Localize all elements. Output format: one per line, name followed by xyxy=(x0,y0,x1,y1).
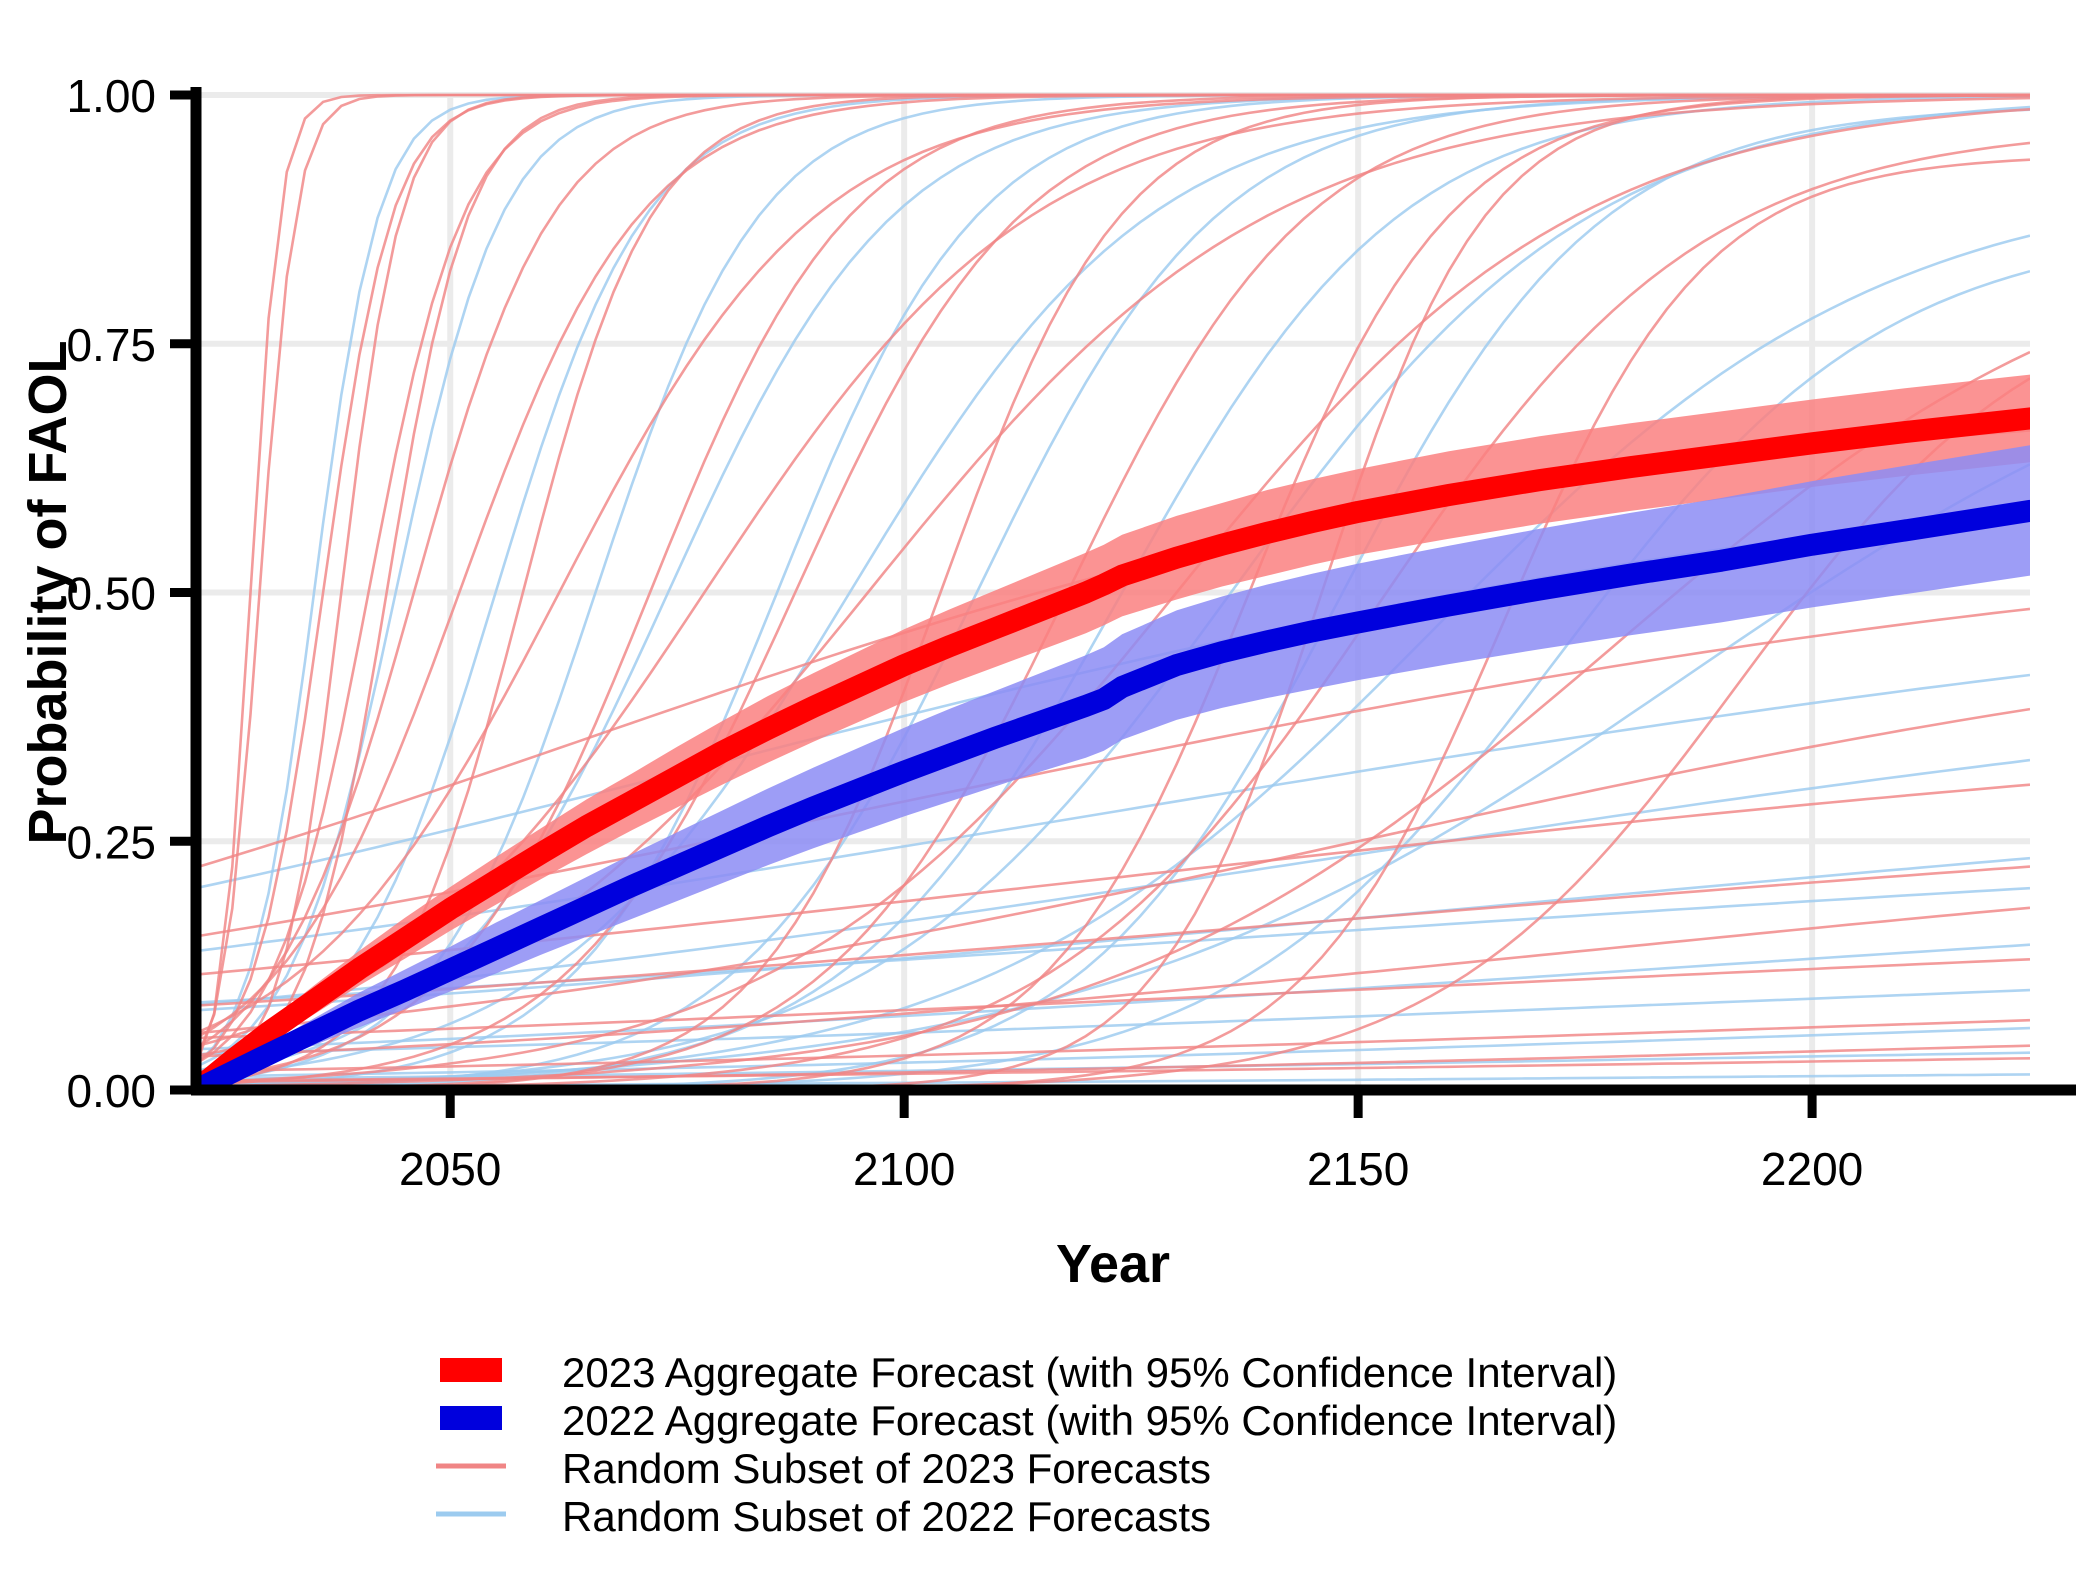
chart-canvas: 0.000.250.500.751.002050210021502200 Pro… xyxy=(0,0,2076,1594)
y-tick-label: 0.50 xyxy=(66,568,156,620)
y-tick-label: 0.75 xyxy=(66,319,156,371)
legend-label: Random Subset of 2022 Forecasts xyxy=(562,1493,1211,1540)
x-tick-label: 2150 xyxy=(1307,1143,1409,1195)
y-axis-title: Probability of FAOL xyxy=(18,340,78,844)
y-tick-label: 0.00 xyxy=(66,1065,156,1117)
legend-label: 2023 Aggregate Forecast (with 95% Confid… xyxy=(562,1349,1617,1396)
y-tick-label: 1.00 xyxy=(66,70,156,122)
x-tick-label: 2050 xyxy=(399,1143,501,1195)
x-tick-label: 2100 xyxy=(853,1143,955,1195)
x-axis-title: Year xyxy=(1056,1234,1170,1294)
legend-swatch xyxy=(440,1406,502,1430)
x-tick-label: 2200 xyxy=(1761,1143,1863,1195)
chart-figure: 0.000.250.500.751.002050210021502200 Pro… xyxy=(0,0,2076,1594)
legend-label: 2022 Aggregate Forecast (with 95% Confid… xyxy=(562,1397,1617,1444)
legend-swatch xyxy=(440,1358,502,1382)
y-tick-label: 0.25 xyxy=(66,816,156,868)
legend-label: Random Subset of 2023 Forecasts xyxy=(562,1445,1211,1492)
